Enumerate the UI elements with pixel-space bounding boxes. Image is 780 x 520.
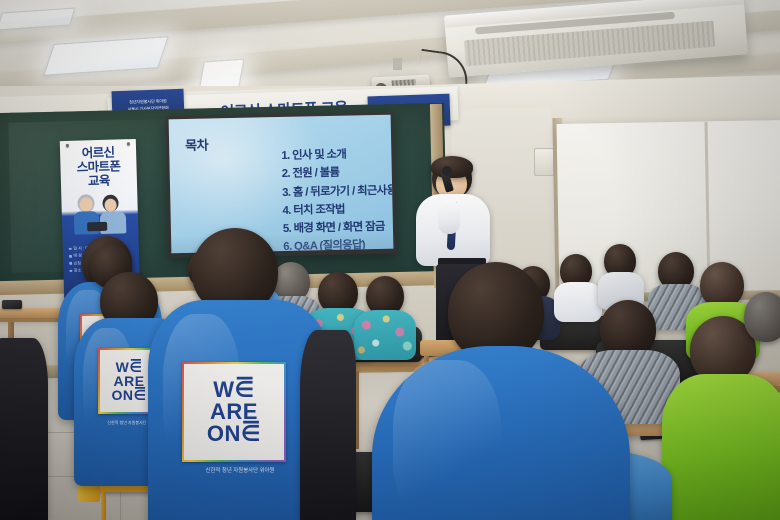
presenter-hair [431,156,473,178]
logo-line-1: W⋶ [116,360,143,374]
audience-torso [554,282,602,322]
logo-line-3: ON⋶ [111,388,146,402]
audience-torso [662,374,780,520]
vest-highlight [393,360,501,520]
logo-line-2: ARE [210,401,258,423]
projection-screen: 목차 1. 인사 및 소개 2. 전원 / 볼륨 3. 홈 / 뒤로가기 / 최… [169,115,394,254]
slide-heading: 목차 [185,135,208,154]
stool-leg [101,492,106,520]
classroom-photo: 어르신 스마트폰 교육 청년자원봉사단 위아원 서울시 기사부지역연합회 WE … [0,0,780,520]
audience-torso [300,330,356,520]
vest-logo-patch: W⋶ ARE ON⋶ [182,362,286,462]
audience-torso [0,338,48,520]
logo-line-1: W⋶ [213,379,255,401]
logo-inner: W⋶ ARE ON⋶ [184,364,284,460]
slide-item: 3. 홈 / 뒤로가기 / 최근사용 [282,180,393,201]
wall-switch-box [534,148,554,176]
audience-head [744,292,780,342]
presenter-arm [438,200,460,234]
poster-title: 어르신 스마트폰 교육 [60,145,137,189]
logo-line-2: ARE [113,374,144,388]
slide-item: 1. 인사 및 소개 [281,144,393,165]
slide-item: 4. 터치 조작법 [282,199,393,220]
slide-item: 2. 전원 / 볼륨 [282,162,394,183]
poster-title-line3: 교육 [61,173,137,189]
poster-illustration [69,193,130,235]
smartphone [2,300,22,309]
audience-torso [354,310,416,360]
microphone-head [442,166,452,176]
logo-line-3: ON⋶ [207,423,261,445]
poster-phone-icon [87,222,107,232]
